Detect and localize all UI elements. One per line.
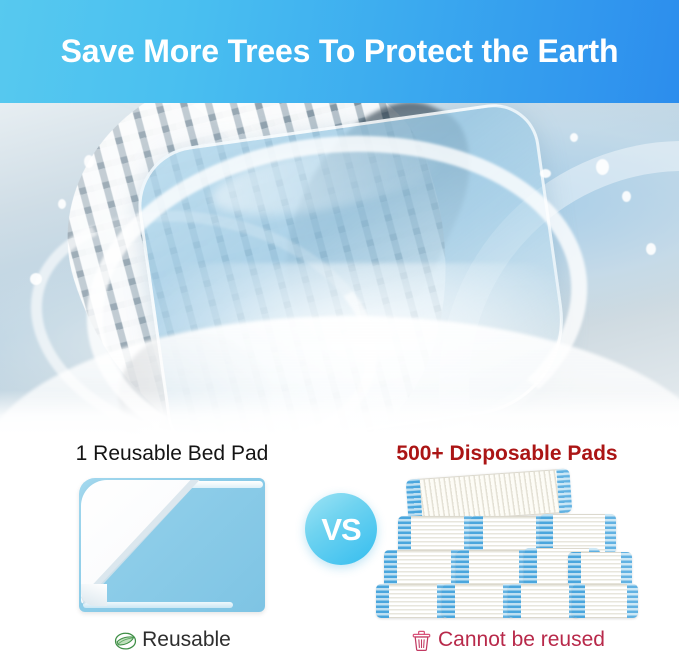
water-droplet <box>646 243 656 255</box>
water-droplet <box>622 191 631 202</box>
leaf-icon <box>113 628 137 652</box>
disposable-pads-stack-image <box>382 474 632 616</box>
water-droplet <box>570 133 578 142</box>
water-droplet <box>84 155 94 168</box>
pad-bale <box>456 550 530 588</box>
comparison-left-column: 1 Reusable Bed Pad Reusable <box>12 436 332 658</box>
pad-bale <box>398 516 475 554</box>
pad-bale <box>442 584 514 618</box>
water-droplet <box>596 159 609 175</box>
pad-bale <box>384 550 462 588</box>
hero-photo-washer-splash <box>0 103 679 436</box>
left-product-title: 1 Reusable Bed Pad <box>12 442 332 466</box>
page-title: Save More Trees To Protect the Earth <box>0 33 679 70</box>
pad-bale <box>508 584 580 618</box>
water-droplet <box>58 199 66 209</box>
infographic-root: Save More Trees To Protect the Earth 1 R… <box>0 0 679 658</box>
left-footer-label: Reusable <box>12 628 332 652</box>
water-droplet <box>540 169 551 178</box>
header-banner: Save More Trees To Protect the Earth <box>0 0 679 103</box>
right-footer-text: Cannot be reused <box>438 628 605 652</box>
right-product-title: 500+ Disposable Pads <box>347 442 667 466</box>
right-footer-label: Cannot be reused <box>347 628 667 652</box>
reusable-bed-pad-image <box>79 478 265 612</box>
comparison-section: 1 Reusable Bed Pad Reusable <box>0 436 679 658</box>
pad-bale <box>568 552 632 588</box>
pad-bale <box>376 584 448 618</box>
trash-icon <box>409 628 433 652</box>
left-footer-text: Reusable <box>142 628 231 652</box>
water-droplet <box>30 273 42 285</box>
comparison-right-column: 500+ Disposable Pads <box>347 436 667 658</box>
pad-bale <box>572 584 638 618</box>
photo-bottom-fade <box>0 390 679 436</box>
